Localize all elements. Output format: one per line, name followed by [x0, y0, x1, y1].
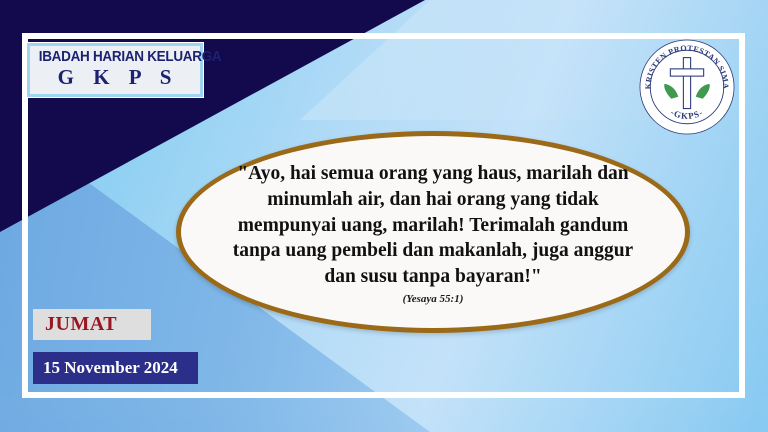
header-title-badge-inner: IBADAH HARIAN KELUARGA G K P S [30, 46, 200, 94]
gkps-church-logo-icon: GEREJA KRISTEN PROTESTAN SIMALUNGUN -GKP… [638, 38, 736, 136]
day-badge: JUMAT [33, 309, 151, 340]
header-title-line2: G K P S [33, 65, 197, 89]
header-title-badge: IBADAH HARIAN KELUARGA G K P S [26, 42, 204, 98]
devotional-slide: IBADAH HARIAN KELUARGA G K P S GEREJA KR… [0, 0, 768, 432]
verse-reference: (Yesaya 55:1) [403, 293, 464, 305]
verse-ellipse: "Ayo, hai semua orang yang haus, marilah… [176, 131, 690, 333]
date-badge: 15 November 2024 [33, 352, 198, 384]
header-title-line1: IBADAH HARIAN KELUARGA [39, 50, 192, 65]
day-label: JUMAT [33, 313, 117, 336]
date-label: 15 November 2024 [33, 358, 178, 378]
verse-text: "Ayo, hai semua orang yang haus, marilah… [223, 161, 643, 291]
